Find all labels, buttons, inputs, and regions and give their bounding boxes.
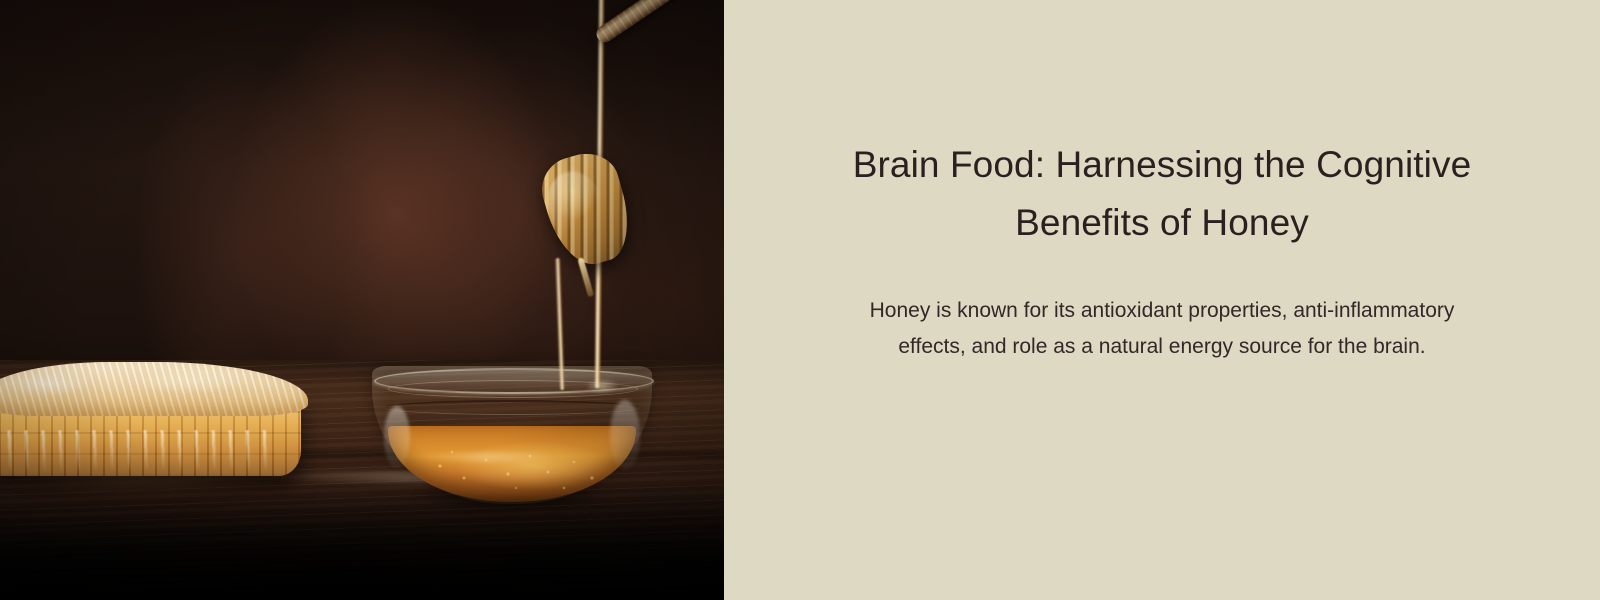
page-subtitle: Honey is known for its antioxidant prope…	[837, 253, 1487, 365]
hero-photo	[0, 0, 724, 600]
bowl-bottom-highlight	[418, 452, 558, 462]
honeycomb-block	[0, 356, 318, 486]
honeycomb-wax-cap	[0, 362, 308, 416]
honey-stream-splash	[580, 372, 624, 398]
bowl-glass-band	[384, 400, 640, 415]
honeycomb-wax-texture	[0, 362, 308, 416]
page-title: Brain Food: Harnessing the Cognitive Ben…	[842, 0, 1482, 253]
text-panel: Brain Food: Harnessing the Cognitive Ben…	[724, 0, 1600, 600]
hero-banner: Brain Food: Harnessing the Cognitive Ben…	[0, 0, 1600, 600]
bowl-left-highlight	[384, 406, 410, 468]
bowl-right-highlight	[610, 400, 640, 470]
honeycomb-wax-drips	[0, 430, 272, 472]
